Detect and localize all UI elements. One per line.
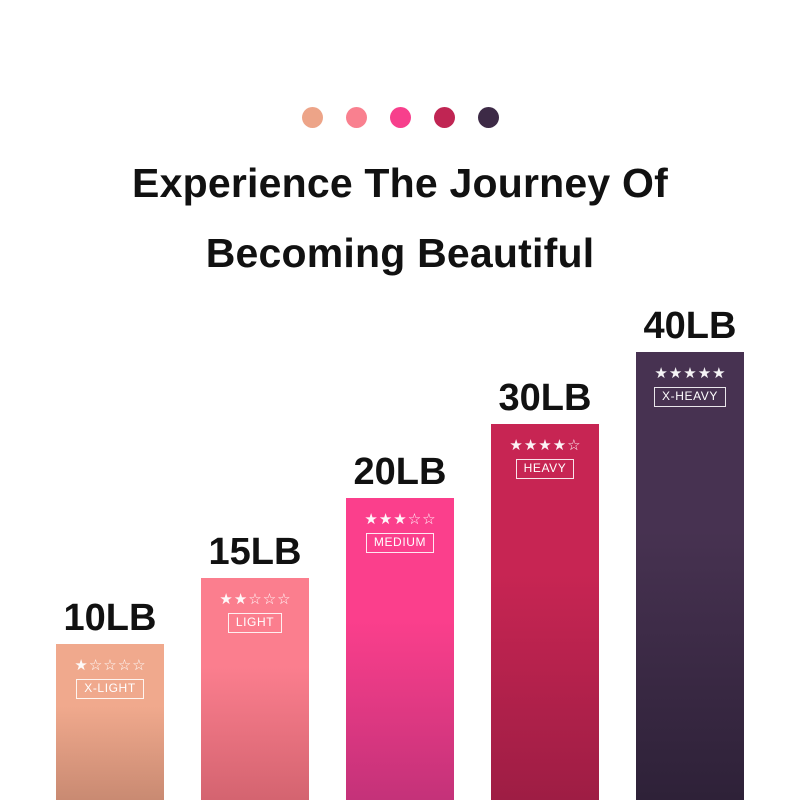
bar-rect: ★★☆☆☆LIGHT xyxy=(201,578,309,800)
bar-value-label: 20LB xyxy=(354,453,447,491)
star-empty-icon: ☆ xyxy=(132,658,145,673)
star-filled-icon: ★ xyxy=(683,366,696,381)
star-empty-icon: ☆ xyxy=(408,512,421,527)
star-empty-icon: ☆ xyxy=(567,438,580,453)
bar-value-label: 40LB xyxy=(644,307,737,345)
bar-group-15lb[interactable]: 15LB★★☆☆☆LIGHT xyxy=(201,578,309,800)
bar-badge-block: ★★★★★X-HEAVY xyxy=(636,366,744,407)
resistance-level-badge: X-HEAVY xyxy=(654,387,726,407)
bar-rect: ★★★★★X-HEAVY xyxy=(636,352,744,800)
star-filled-icon: ★ xyxy=(364,512,377,527)
star-empty-icon: ☆ xyxy=(89,658,102,673)
star-filled-icon: ★ xyxy=(712,366,725,381)
star-filled-icon: ★ xyxy=(698,366,711,381)
bar-rect: ★★★☆☆MEDIUM xyxy=(346,498,454,800)
bar-group-10lb[interactable]: 10LB★☆☆☆☆X-LIGHT xyxy=(56,644,164,800)
star-filled-icon: ★ xyxy=(524,438,537,453)
bar-badge-block: ★★★☆☆MEDIUM xyxy=(346,512,454,553)
star-filled-icon: ★ xyxy=(234,592,247,607)
star-filled-icon: ★ xyxy=(654,366,667,381)
bar-badge-block: ★☆☆☆☆X-LIGHT xyxy=(56,658,164,699)
star-empty-icon: ☆ xyxy=(277,592,290,607)
star-filled-icon: ★ xyxy=(669,366,682,381)
star-filled-icon: ★ xyxy=(219,592,232,607)
star-filled-icon: ★ xyxy=(393,512,406,527)
bar-group-40lb[interactable]: 40LB★★★★★X-HEAVY xyxy=(636,352,744,800)
bar-value-label: 30LB xyxy=(499,379,592,417)
star-filled-icon: ★ xyxy=(553,438,566,453)
bar-rect: ★★★★☆HEAVY xyxy=(491,424,599,800)
bar-group-20lb[interactable]: 20LB★★★☆☆MEDIUM xyxy=(346,498,454,800)
star-empty-icon: ☆ xyxy=(248,592,261,607)
star-filled-icon: ★ xyxy=(538,438,551,453)
star-rating: ★★★★★ xyxy=(654,366,725,381)
star-rating: ★☆☆☆☆ xyxy=(74,658,145,673)
bar-fill xyxy=(636,352,744,800)
bar-badge-block: ★★☆☆☆LIGHT xyxy=(201,592,309,633)
bar-value-label: 10LB xyxy=(64,599,157,637)
resistance-level-badge: MEDIUM xyxy=(366,533,434,553)
resistance-level-badge: LIGHT xyxy=(228,613,282,633)
star-filled-icon: ★ xyxy=(379,512,392,527)
bar-rect: ★☆☆☆☆X-LIGHT xyxy=(56,644,164,800)
star-empty-icon: ☆ xyxy=(103,658,116,673)
star-rating: ★★★☆☆ xyxy=(364,512,435,527)
bar-fill xyxy=(491,424,599,800)
bar-group-30lb[interactable]: 30LB★★★★☆HEAVY xyxy=(491,424,599,800)
star-empty-icon: ☆ xyxy=(118,658,131,673)
star-filled-icon: ★ xyxy=(74,658,87,673)
resistance-level-badge: X-LIGHT xyxy=(76,679,144,699)
star-rating: ★★☆☆☆ xyxy=(219,592,290,607)
resistance-level-badge: HEAVY xyxy=(516,459,575,479)
star-empty-icon: ☆ xyxy=(422,512,435,527)
resistance-band-bar-chart: 10LB★☆☆☆☆X-LIGHT15LB★★☆☆☆LIGHT20LB★★★☆☆M… xyxy=(0,0,800,800)
star-rating: ★★★★☆ xyxy=(509,438,580,453)
star-empty-icon: ☆ xyxy=(263,592,276,607)
star-filled-icon: ★ xyxy=(509,438,522,453)
bar-value-label: 15LB xyxy=(209,533,302,571)
poster-canvas: Experience The Journey Of Becoming Beaut… xyxy=(0,0,800,800)
bar-badge-block: ★★★★☆HEAVY xyxy=(491,438,599,479)
